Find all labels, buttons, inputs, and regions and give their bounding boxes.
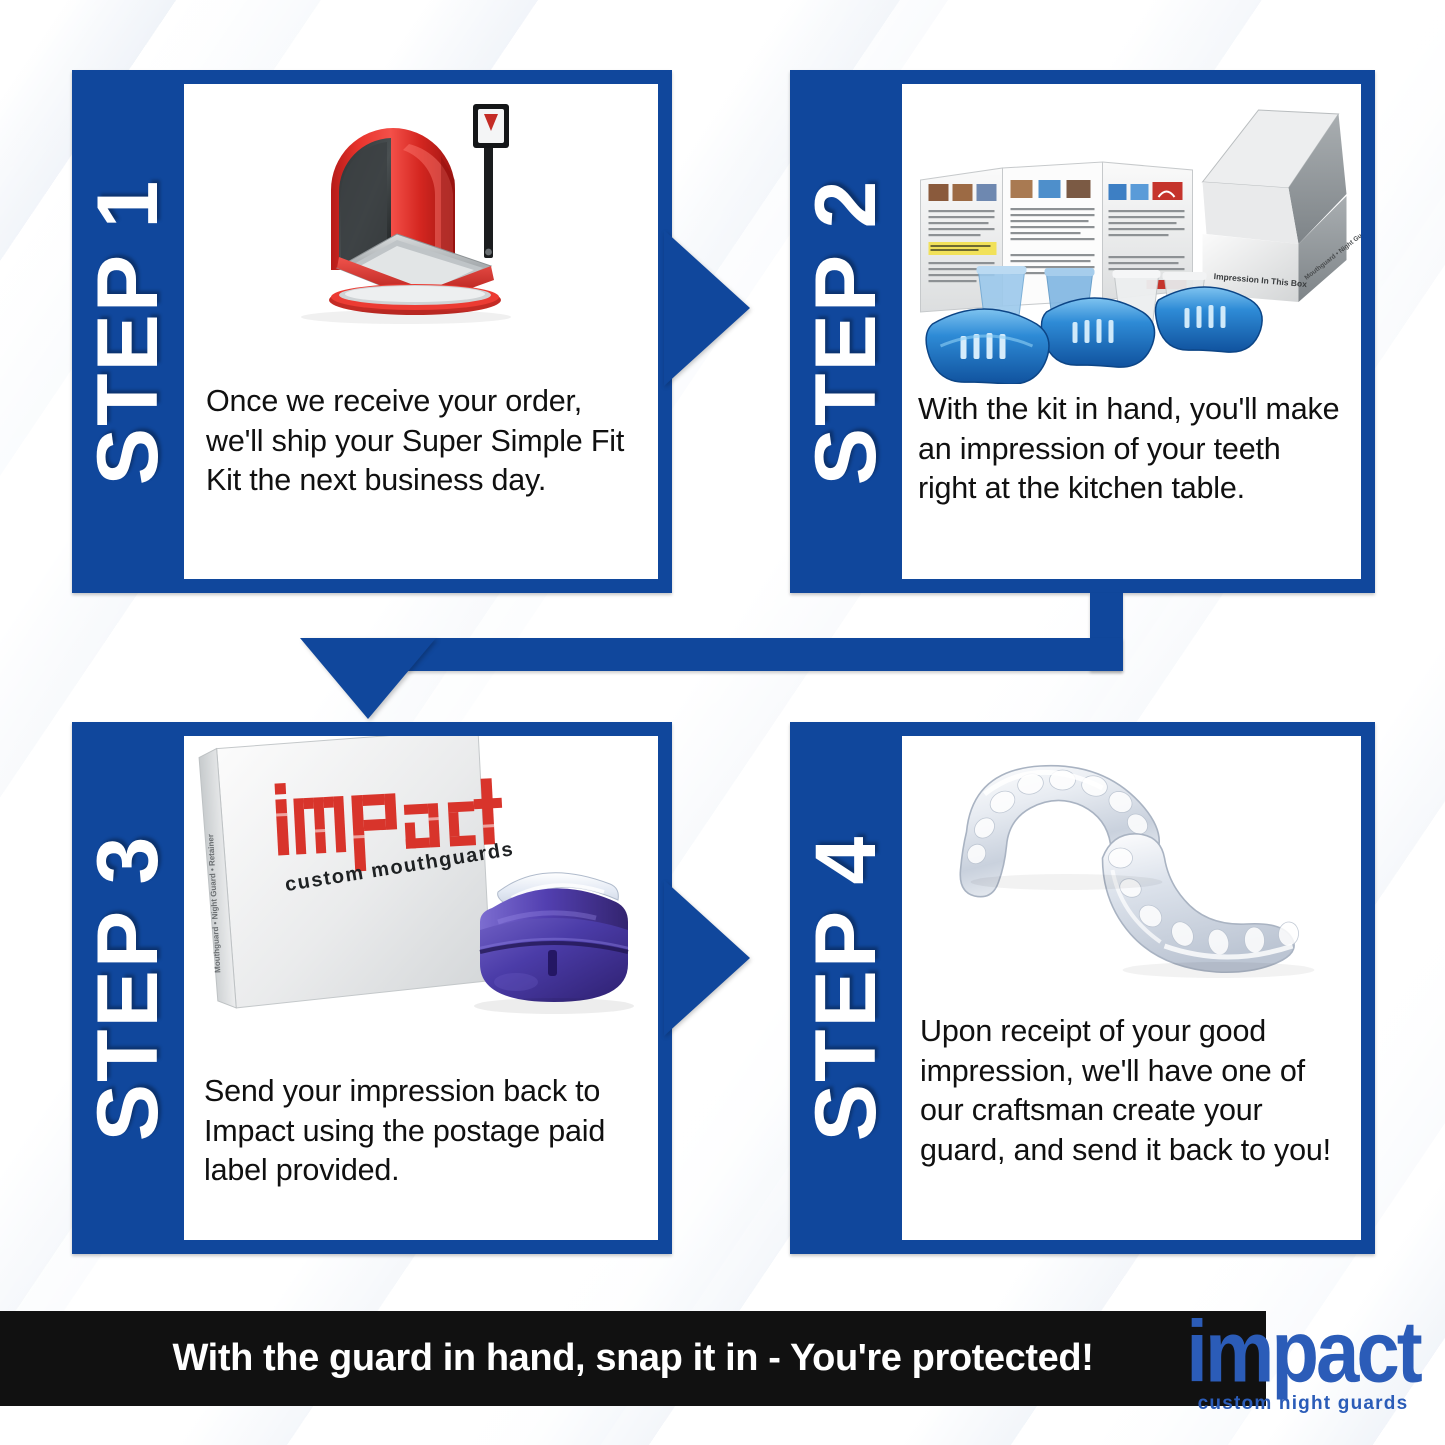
step-label-1: STEP 1 — [85, 178, 171, 485]
step-3-illustration: Mouthguard • Night Guard • Retainer — [184, 736, 658, 1058]
mailbox-icon — [184, 84, 658, 374]
connector-horizontal-segment — [365, 638, 1123, 671]
impression-kit-icon: Impression In This Box Mouthguard • Nigh… — [902, 84, 1361, 384]
step-1-caption: Once we receive your order, we'll ship y… — [184, 374, 658, 501]
step-rail-4: STEP 4 — [790, 722, 902, 1254]
infographic-root: STEP 1 — [0, 0, 1445, 1445]
step-4-illustration — [902, 736, 1361, 1006]
step-1-illustration — [184, 84, 658, 374]
banner-text: With the guard in hand, snap it in - You… — [173, 1337, 1094, 1380]
step-3-caption: Send your impression back to Impact usin… — [184, 1058, 658, 1191]
arrow-step2-to-step3-icon — [300, 638, 436, 719]
step-panel-1: STEP 1 — [72, 70, 672, 593]
logo-wordmark: impact — [1172, 1312, 1434, 1392]
step-rail-1: STEP 1 — [72, 70, 184, 593]
step-label-4: STEP 4 — [803, 835, 889, 1142]
step-2-caption: With the kit in hand, you'll make an imp… — [902, 384, 1361, 509]
impact-footer-logo: impact custom night guards — [1172, 1312, 1434, 1422]
arrow-step1-to-step2-icon — [664, 230, 750, 386]
step-body-1: Once we receive your order, we'll ship y… — [184, 84, 658, 579]
clear-night-guard-icon — [902, 736, 1361, 1006]
step-label-3: STEP 3 — [85, 835, 171, 1142]
step-panel-2: STEP 2 — [790, 70, 1375, 593]
arrow-step3-to-step4-icon — [664, 880, 750, 1036]
step-body-3: Mouthguard • Night Guard • Retainer — [184, 736, 658, 1240]
step-body-4: Upon receipt of your good impression, we… — [902, 736, 1361, 1240]
step-rail-2: STEP 2 — [790, 70, 902, 593]
step-4-caption: Upon receipt of your good impression, we… — [902, 1006, 1361, 1171]
return-box-and-case-icon: Mouthguard • Night Guard • Retainer — [184, 736, 658, 1058]
step-body-2: Impression In This Box Mouthguard • Nigh… — [902, 84, 1361, 579]
step-panel-3: STEP 3 — [72, 722, 672, 1254]
step-rail-3: STEP 3 — [72, 722, 184, 1254]
step-panel-4: STEP 4 — [790, 722, 1375, 1254]
bottom-banner: With the guard in hand, snap it in - You… — [0, 1311, 1266, 1406]
step-2-illustration: Impression In This Box Mouthguard • Nigh… — [902, 84, 1361, 384]
step-label-2: STEP 2 — [803, 178, 889, 485]
